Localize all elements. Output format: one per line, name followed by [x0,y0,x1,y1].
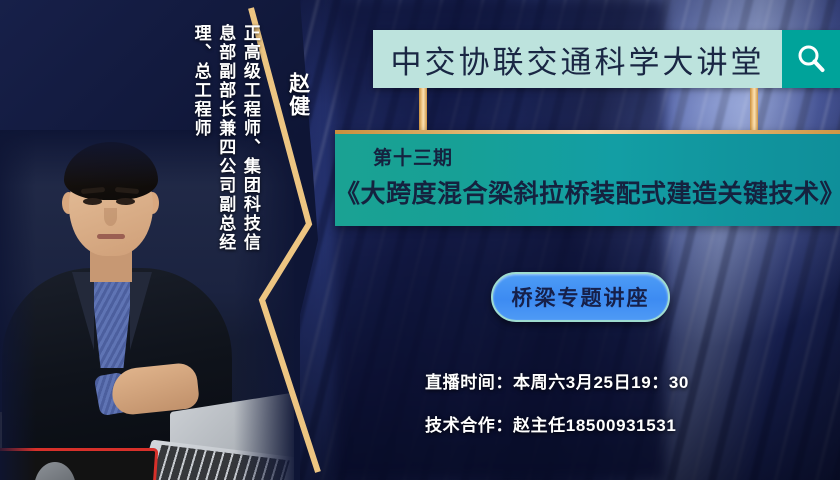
gold-post-right [750,88,758,134]
speaker-title: 正高级工程师、集团科技信息部副部长兼四公司副总经理、总工程师 [188,24,262,264]
speaker-name: 赵健 [286,72,309,118]
gold-post-left [419,88,427,134]
session-topic: 《大跨度混合梁斜拉桥装配式建造关键技术》 [335,174,840,210]
session-title-box: 第十三期 《大跨度混合梁斜拉桥装配式建造关键技术》 [335,130,840,226]
webinar-poster: 赵健 正高级工程师、集团科技信息部副部长兼四公司副总经理、总工程师 中交协联交通… [0,0,840,480]
search-icon[interactable] [782,30,840,88]
program-banner: 中交协联交通科学大讲堂 [373,30,840,88]
session-episode: 第十三期 [373,143,840,170]
program-banner-title: 中交协联交通科学大讲堂 [373,30,782,88]
contact-text: 技术合作：赵主任18500931531 [425,411,676,436]
live-time-text: 直播时间：本周六3月25日19：30 [425,368,689,393]
category-button[interactable]: 桥梁专题讲座 [491,272,670,322]
